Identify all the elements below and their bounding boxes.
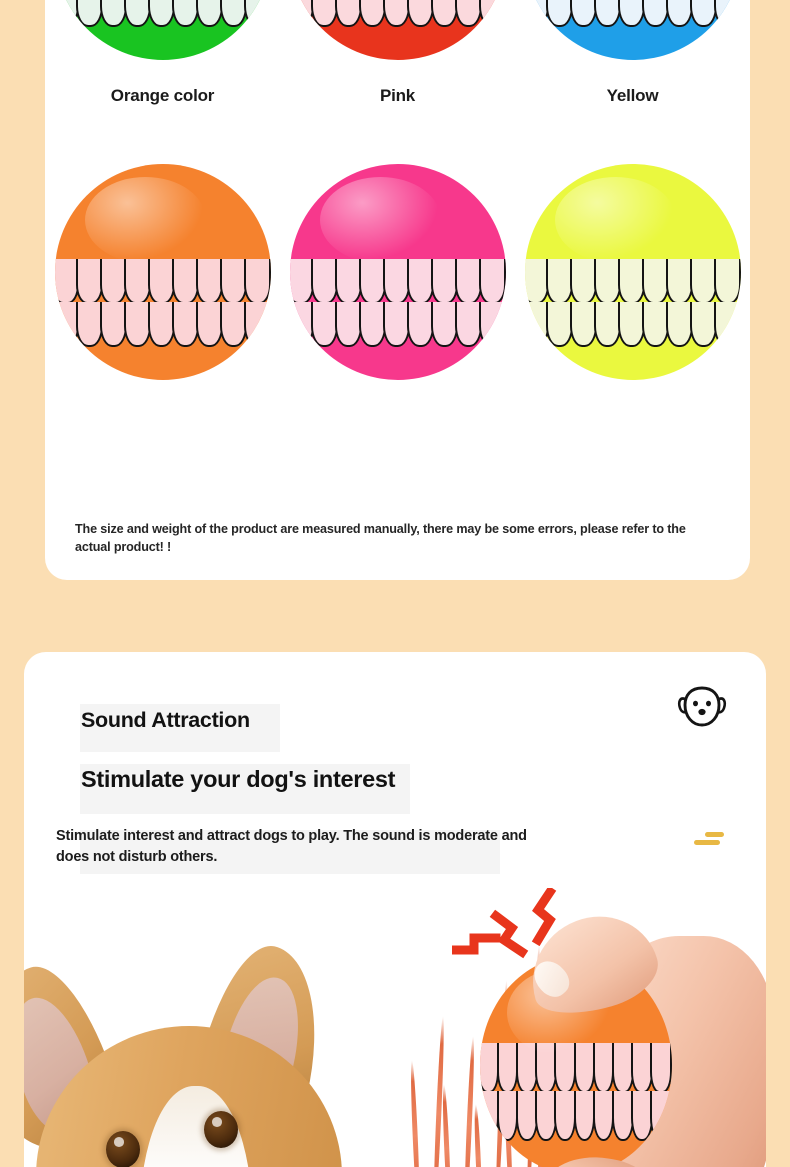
color-label: Pink <box>280 86 515 106</box>
color-option[interactable] <box>280 0 515 60</box>
mouth-graphic <box>525 259 741 350</box>
section-headline: Stimulate your dog's interest <box>81 766 395 793</box>
teeth-ball-yellow <box>525 164 741 380</box>
color-swatch-grid: Orange color Pink <box>45 0 750 380</box>
dog-face-icon <box>676 684 728 732</box>
corgi-dog-illustration <box>24 910 394 1167</box>
section-eyebrow: Sound Attraction <box>81 708 250 733</box>
color-option-pink[interactable]: Pink <box>280 80 515 380</box>
dog-eye-left <box>106 1131 140 1167</box>
mouth-graphic <box>290 259 506 350</box>
ball-highlight <box>85 177 206 263</box>
teeth-ball-green <box>55 0 271 60</box>
color-option-orange[interactable]: Orange color <box>45 80 280 380</box>
measurement-disclaimer: The size and weight of the product are m… <box>75 520 720 557</box>
teeth-ball-red <box>290 0 506 60</box>
teeth-ball-orange <box>55 164 271 380</box>
color-option[interactable] <box>45 0 280 60</box>
mouth-graphic <box>55 0 271 30</box>
thumb-nail <box>528 955 576 1003</box>
color-label: Yellow <box>515 86 750 106</box>
gold-bars-mark <box>694 830 724 848</box>
mouth-graphic <box>480 1043 672 1143</box>
color-row <box>45 0 750 60</box>
sound-attraction-card: Sound Attraction Stimulate your dog's in… <box>24 652 766 1167</box>
mouth-graphic <box>55 259 271 350</box>
color-options-card: Orange color Pink <box>45 0 750 580</box>
sound-wave-line <box>409 1060 421 1167</box>
section-body: Stimulate interest and attract dogs to p… <box>56 826 536 868</box>
teeth-ball-pink <box>290 164 506 380</box>
teeth-ball-blue <box>525 0 741 60</box>
color-label: Orange color <box>45 86 280 106</box>
mouth-graphic <box>290 0 506 30</box>
ball-highlight <box>555 177 676 263</box>
dog-eye-right <box>204 1111 238 1148</box>
sound-wave-line <box>441 1084 452 1167</box>
hand-holding-ball <box>454 902 766 1167</box>
color-option[interactable] <box>515 0 750 60</box>
color-row: Orange color Pink <box>45 60 750 380</box>
color-option-yellow[interactable]: Yellow <box>515 80 750 380</box>
ball-highlight <box>320 177 441 263</box>
dog-with-squeaky-ball-photo <box>24 880 766 1167</box>
mouth-graphic <box>525 0 741 30</box>
